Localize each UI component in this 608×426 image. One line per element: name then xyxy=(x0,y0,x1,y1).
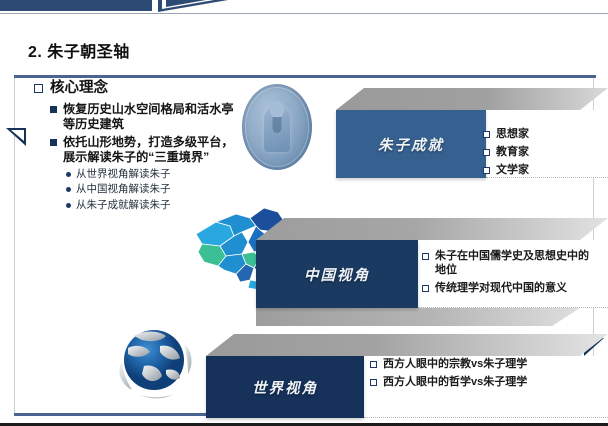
square-filled-bullet-icon xyxy=(50,139,57,146)
content-outline: 核心理念 恢复历史山水空间格局和活水亭等历史建筑 依托山形地势，打造多级平台，展… xyxy=(34,80,239,215)
outline-item-l2-label: 依托山形地势，打造多级平台，展示解读朱子的“三重境界” xyxy=(63,135,239,165)
list-item: 西方人眼中的哲学vs朱子理学 xyxy=(370,376,596,390)
square-filled-bullet-icon xyxy=(50,106,57,113)
step3-label: 世界视角 xyxy=(206,356,364,418)
outline-item-l3: 从世界视角解读朱子 xyxy=(66,168,239,181)
outline-item-l3-label: 从朱子成就解读朱子 xyxy=(76,199,171,212)
list-item: 传统理学对现代中国的意义 xyxy=(422,282,598,296)
square-outline-bullet-icon xyxy=(370,379,377,386)
outline-item-l2: 依托山形地势，打造多级平台，展示解读朱子的“三重境界” xyxy=(50,135,239,165)
slide-canvas: 2. 朱子朝圣轴 核心理念 恢复历史山水空间格局和活水亭等历史建筑 依托山形地势… xyxy=(0,0,608,426)
top-decorative-band xyxy=(0,0,608,13)
top-band-left-bar xyxy=(0,0,152,11)
list-item: 朱子在中国儒学史及思想史中的地位 xyxy=(422,250,598,278)
outline-item-l3: 从中国视角解读朱子 xyxy=(66,183,239,196)
step1-detail-list: 思想家 教育家 文学家 xyxy=(483,128,595,177)
square-outline-bullet-icon xyxy=(422,285,429,292)
zhu-xi-portrait-medallion-image xyxy=(242,84,312,170)
list-item-label: 文学家 xyxy=(496,164,529,178)
step3-front-face: 世界视角 xyxy=(206,356,364,418)
left-edge-arrow-icon xyxy=(6,128,26,146)
square-outline-bullet-icon xyxy=(483,131,490,138)
list-item-label: 思想家 xyxy=(496,128,529,142)
step2-front-face: 中国视角 xyxy=(256,240,418,308)
square-outline-bullet-icon xyxy=(483,167,490,174)
list-item: 文学家 xyxy=(483,164,595,178)
top-hairline-divider xyxy=(0,13,608,14)
step2-detail-list: 朱子在中国儒学史及思想史中的地位 传统理学对现代中国的意义 xyxy=(422,250,598,295)
list-item-label: 西方人眼中的宗教vs朱子理学 xyxy=(383,358,527,372)
step1-label: 朱子成就 xyxy=(336,110,486,178)
top-band-arrow-icon xyxy=(158,0,248,12)
medallion-head xyxy=(270,101,285,118)
world-globe-image xyxy=(110,318,198,404)
outline-item-l2-label: 恢复历史山水空间格局和活水亭等历史建筑 xyxy=(63,102,239,132)
outline-item-l2: 恢复历史山水空间格局和活水亭等历史建筑 xyxy=(50,102,239,132)
step2-label: 中国视角 xyxy=(256,240,418,308)
list-item: 教育家 xyxy=(483,146,595,160)
square-outline-bullet-icon xyxy=(483,149,490,156)
outline-item-l3-label: 从世界视角解读朱子 xyxy=(76,168,171,181)
list-item-label: 西方人眼中的哲学vs朱子理学 xyxy=(383,376,527,390)
list-item-label: 朱子在中国儒学史及思想史中的地位 xyxy=(435,250,598,278)
step1-top-face xyxy=(336,88,608,110)
step2-top-face xyxy=(256,218,608,240)
step1-front-face: 朱子成就 xyxy=(336,110,486,178)
list-item-label: 教育家 xyxy=(496,146,529,160)
step3-top-face xyxy=(206,334,608,356)
outline-heading: 核心理念 xyxy=(34,80,239,97)
round-bullet-icon xyxy=(66,187,71,192)
medallion-beard xyxy=(273,117,282,133)
square-outline-bullet-icon xyxy=(34,84,43,93)
step2-under-face xyxy=(256,308,608,326)
square-outline-bullet-icon xyxy=(370,361,377,368)
page-title: 2. 朱子朝圣轴 xyxy=(28,38,130,62)
step3-detail-list: 西方人眼中的宗教vs朱子理学 西方人眼中的哲学vs朱子理学 xyxy=(370,358,596,390)
list-item-label: 传统理学对现代中国的意义 xyxy=(435,282,567,296)
list-item: 西方人眼中的宗教vs朱子理学 xyxy=(370,358,596,372)
list-item: 思想家 xyxy=(483,128,595,142)
frame-top-rule xyxy=(14,75,596,78)
round-bullet-icon xyxy=(66,172,71,177)
round-bullet-icon xyxy=(66,203,71,208)
outline-heading-label: 核心理念 xyxy=(50,80,108,97)
square-outline-bullet-icon xyxy=(422,253,429,260)
outline-item-l3-label: 从中国视角解读朱子 xyxy=(76,183,171,196)
